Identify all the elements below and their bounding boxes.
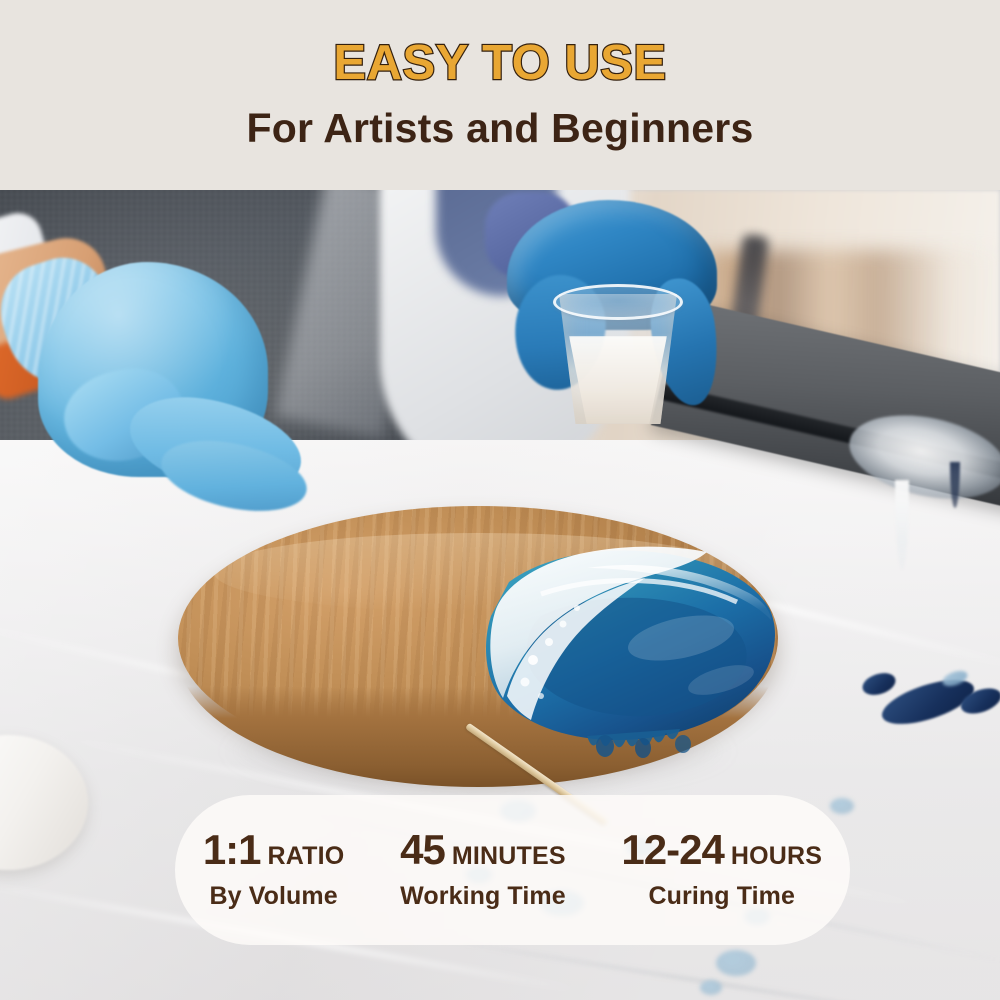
spec-curing-time: 12-24 HOURS Curing Time: [615, 829, 828, 911]
clear-mixing-cup: [553, 284, 683, 426]
spec-curing-time-label: Curing Time: [621, 882, 822, 911]
spec-working-time: 45 MINUTES Working Time: [394, 829, 572, 911]
resin-droplet: [716, 950, 756, 976]
spec-ratio-value: 1:1: [203, 829, 261, 871]
resin-droplet: [700, 980, 722, 995]
spec-working-time-headline: 45 MINUTES: [400, 829, 566, 871]
cup-rim: [553, 284, 683, 320]
teal-resin-ocean-art: [391, 520, 781, 772]
product-photo: 1:1 RATIO By Volume 45 MINUTES Working T…: [0, 190, 1000, 1000]
spec-curing-time-unit: HOURS: [731, 844, 822, 869]
spec-working-time-label: Working Time: [400, 882, 566, 911]
spec-ratio-label: By Volume: [203, 882, 345, 911]
spec-working-time-value: 45: [400, 829, 445, 871]
page-subtitle: For Artists and Beginners: [247, 106, 754, 151]
spec-ratio-unit: RATIO: [268, 844, 345, 869]
specs-panel: 1:1 RATIO By Volume 45 MINUTES Working T…: [175, 795, 850, 945]
spec-curing-time-value: 12-24: [621, 829, 723, 871]
spec-working-time-unit: MINUTES: [452, 844, 566, 869]
resin-droplet: [830, 798, 854, 814]
spec-ratio-headline: 1:1 RATIO: [203, 829, 345, 871]
blue-nitrile-glove-right: [497, 200, 727, 415]
page-title: EASY TO USE: [333, 39, 666, 88]
product-feature-image: 1:1 RATIO By Volume 45 MINUTES Working T…: [0, 0, 1000, 1000]
spec-curing-time-headline: 12-24 HOURS: [621, 829, 822, 871]
header-banner: EASY TO USE For Artists and Beginners: [0, 0, 1000, 190]
blue-nitrile-glove-left: [10, 252, 340, 582]
spec-ratio: 1:1 RATIO By Volume: [197, 829, 351, 911]
